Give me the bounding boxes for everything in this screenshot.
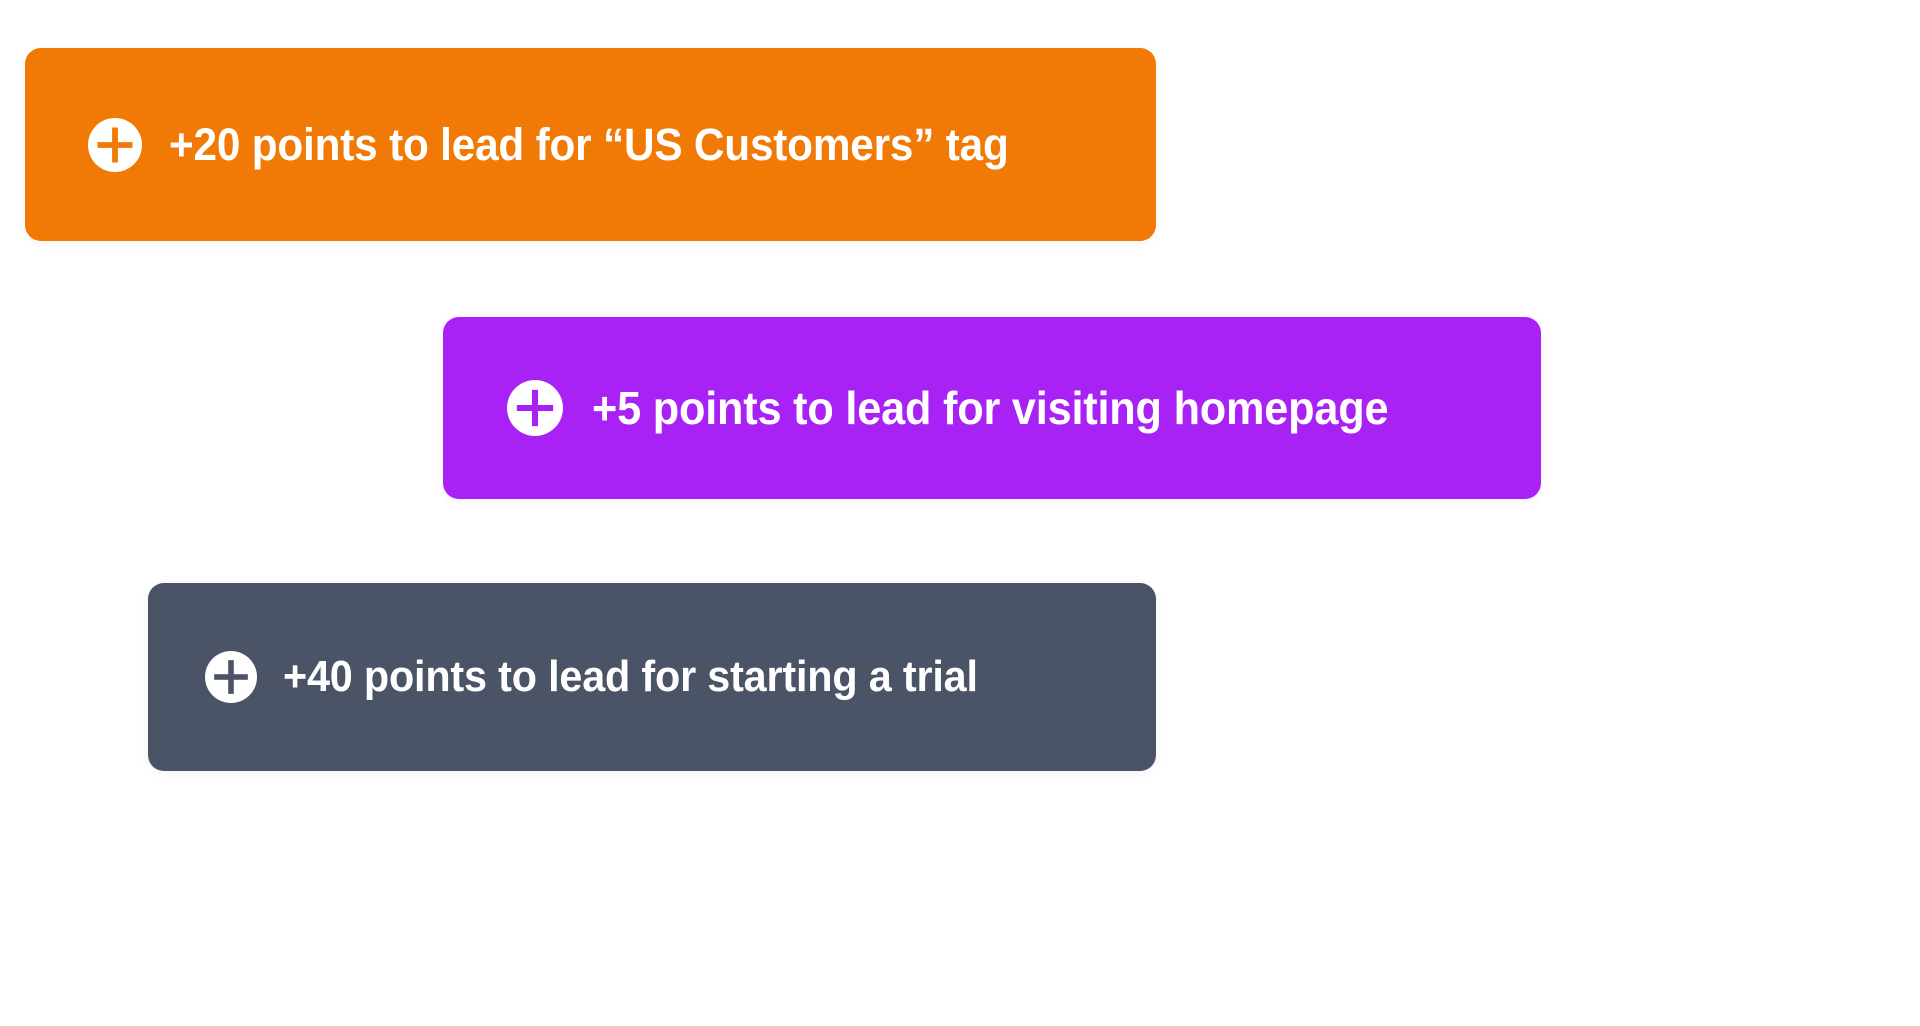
cards-stage: +20 points to lead for “US Customers” ta… — [0, 0, 1920, 1026]
points-rule-card-us-customers-tag[interactable]: +20 points to lead for “US Customers” ta… — [25, 48, 1156, 241]
points-rule-card-visiting-homepage[interactable]: +5 points to lead for visiting homepage — [443, 317, 1541, 499]
plus-circle-icon — [205, 651, 257, 703]
points-rule-card-starting-a-trial[interactable]: +40 points to lead for starting a trial — [148, 583, 1156, 771]
plus-circle-icon — [507, 380, 563, 436]
points-rule-label: +20 points to lead for “US Customers” ta… — [169, 122, 1009, 167]
points-rule-label: +5 points to lead for visiting homepage — [592, 385, 1388, 431]
plus-circle-icon — [88, 118, 142, 172]
points-rule-label: +40 points to lead for starting a trial — [283, 655, 978, 699]
